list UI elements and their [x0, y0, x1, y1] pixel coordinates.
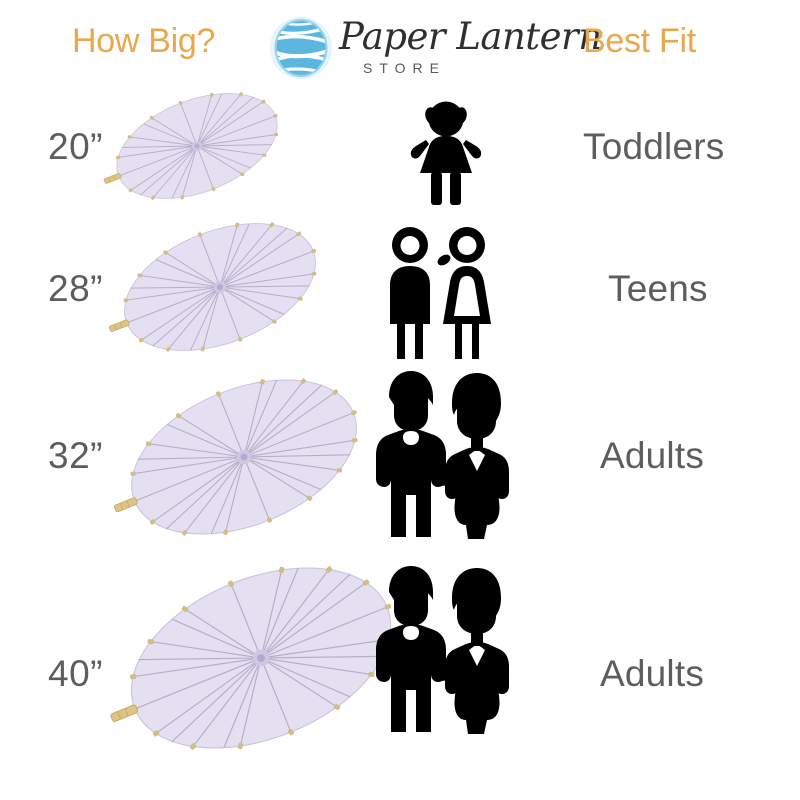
fit-label-adults-40: Adults — [600, 653, 704, 695]
infographic-header: How Big? — [0, 0, 800, 92]
teen-couple-icon — [375, 223, 505, 363]
paper-parasol-icon — [118, 361, 368, 561]
size-row: 20” — [0, 88, 800, 223]
fit-label-teens: Teens — [608, 268, 708, 310]
toddler-girl-icon — [398, 100, 494, 208]
fit-label-adults-32: Adults — [600, 435, 704, 477]
header-how-big-label: How Big? — [72, 22, 215, 61]
brand-wordmark: Paper Lantern STORE — [339, 10, 551, 84]
paper-lantern-icon — [265, 12, 337, 84]
size-label-28: 28” — [48, 268, 103, 310]
adult-couple-icon — [358, 558, 524, 748]
brand-logo: Paper Lantern STORE — [263, 6, 553, 88]
header-best-fit-label: Best Fit — [583, 22, 696, 61]
size-label-40: 40” — [48, 653, 103, 695]
size-row: 28” — [0, 213, 800, 373]
brand-store-text: STORE — [363, 60, 446, 76]
size-label-20: 20” — [48, 126, 103, 168]
fit-label-toddlers: Toddlers — [583, 126, 724, 168]
brand-name-script: Paper Lantern — [339, 10, 551, 64]
paper-parasol-icon — [110, 213, 325, 373]
size-row: 32” — [0, 363, 800, 558]
size-label-32: 32” — [48, 435, 103, 477]
paper-parasol-icon — [105, 86, 285, 216]
adult-couple-icon — [358, 367, 524, 549]
size-row: 40” — [0, 548, 800, 788]
size-comparison-infographic: How Big? — [0, 0, 800, 800]
